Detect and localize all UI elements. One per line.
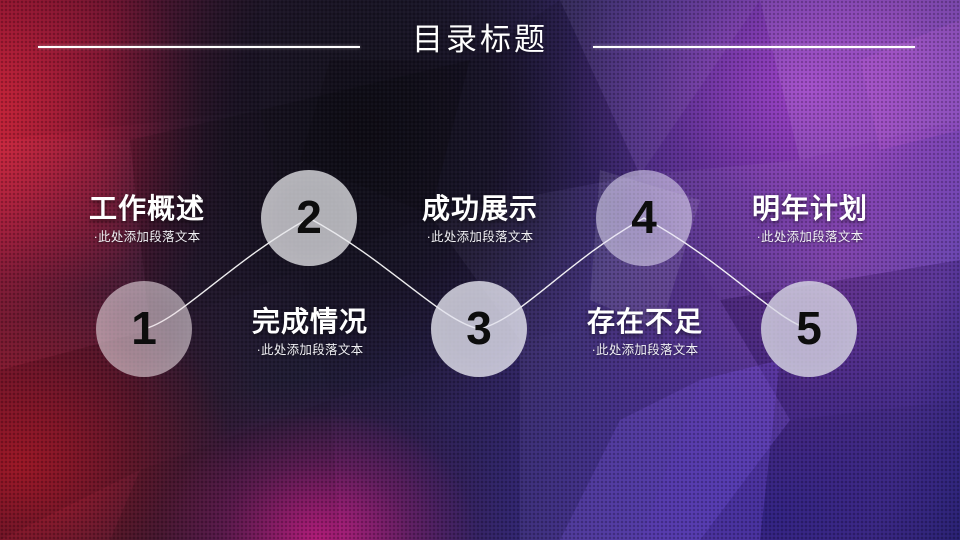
step-label-4[interactable]: 存在不足 ·此处添加段落文本 [520, 305, 770, 359]
step-title-4: 存在不足 [520, 305, 770, 339]
step-circle-5[interactable]: 5 [761, 281, 857, 377]
slide-header: 目录标题 [0, 0, 960, 80]
step-circle-1[interactable]: 1 [96, 281, 192, 377]
step-title-5: 明年计划 [685, 192, 935, 226]
step-subtitle-4: ·此处添加段落文本 [520, 341, 770, 359]
step-title-3: 成功展示 [355, 192, 605, 226]
step-number-2: 2 [296, 194, 322, 240]
step-label-1[interactable]: 工作概述 ·此处添加段落文本 [22, 192, 272, 246]
step-number-5: 5 [796, 305, 822, 351]
step-circle-4[interactable]: 4 [596, 170, 692, 266]
page-title: 目录标题 [0, 21, 960, 59]
step-title-1: 工作概述 [22, 192, 272, 226]
step-number-1: 1 [131, 305, 157, 351]
step-circle-2[interactable]: 2 [261, 170, 357, 266]
step-subtitle-5: ·此处添加段落文本 [685, 228, 935, 246]
step-number-4: 4 [631, 194, 657, 240]
step-label-3[interactable]: 成功展示 ·此处添加段落文本 [355, 192, 605, 246]
step-label-5[interactable]: 明年计划 ·此处添加段落文本 [685, 192, 935, 246]
presentation-slide: 目录标题 1 2 3 4 5 工作概述 ·此处添加段落文本 完成情况 ·此处添加… [0, 0, 960, 540]
step-title-2: 完成情况 [185, 305, 435, 339]
step-number-3: 3 [466, 305, 492, 351]
step-label-2[interactable]: 完成情况 ·此处添加段落文本 [185, 305, 435, 359]
header-rule-right [593, 46, 915, 48]
step-subtitle-3: ·此处添加段落文本 [355, 228, 605, 246]
step-subtitle-1: ·此处添加段落文本 [22, 228, 272, 246]
step-subtitle-2: ·此处添加段落文本 [185, 341, 435, 359]
step-circle-3[interactable]: 3 [431, 281, 527, 377]
step-connector-path [0, 0, 960, 540]
